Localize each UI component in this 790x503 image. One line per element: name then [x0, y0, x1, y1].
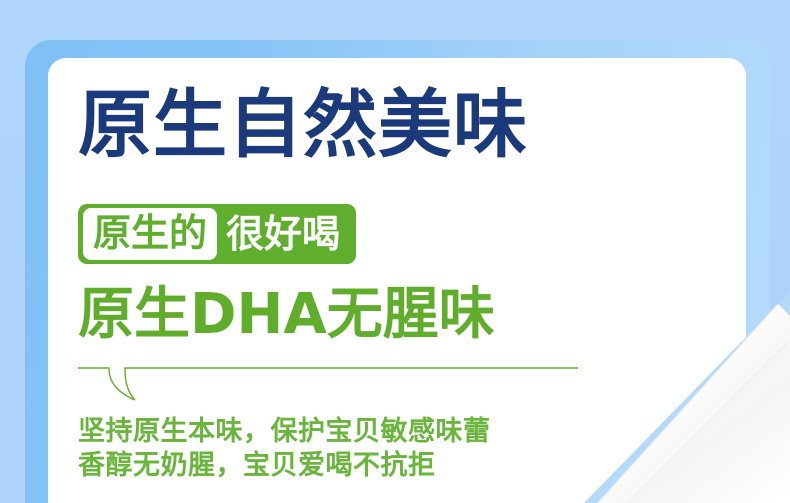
promo-page-root: 原生自然美味 原生的 很好喝 原生DHA无腥味 坚持原生本味，保护宝贝敏感味蕾 …	[0, 0, 790, 503]
tagline-line-1: 坚持原生本味，保护宝贝敏感味蕾	[78, 415, 491, 449]
badge-chip-label: 原生的	[83, 208, 217, 260]
divider	[78, 362, 578, 406]
ribbon-tail-divider-icon	[78, 362, 578, 406]
promo-content: 原生自然美味 原生的 很好喝 原生DHA无腥味 坚持原生本味，保护宝贝敏感味蕾 …	[78, 0, 718, 503]
tagline-line-2: 香醇无奶腥，宝贝爱喝不抗拒	[78, 449, 491, 483]
subheading: 原生DHA无腥味	[78, 286, 495, 344]
badge-text-label: 很好喝	[226, 212, 344, 256]
page-title: 原生自然美味	[78, 88, 528, 162]
tagline: 坚持原生本味，保护宝贝敏感味蕾 香醇无奶腥，宝贝爱喝不抗拒	[78, 415, 491, 483]
status-badge: 原生的 很好喝	[78, 204, 356, 264]
